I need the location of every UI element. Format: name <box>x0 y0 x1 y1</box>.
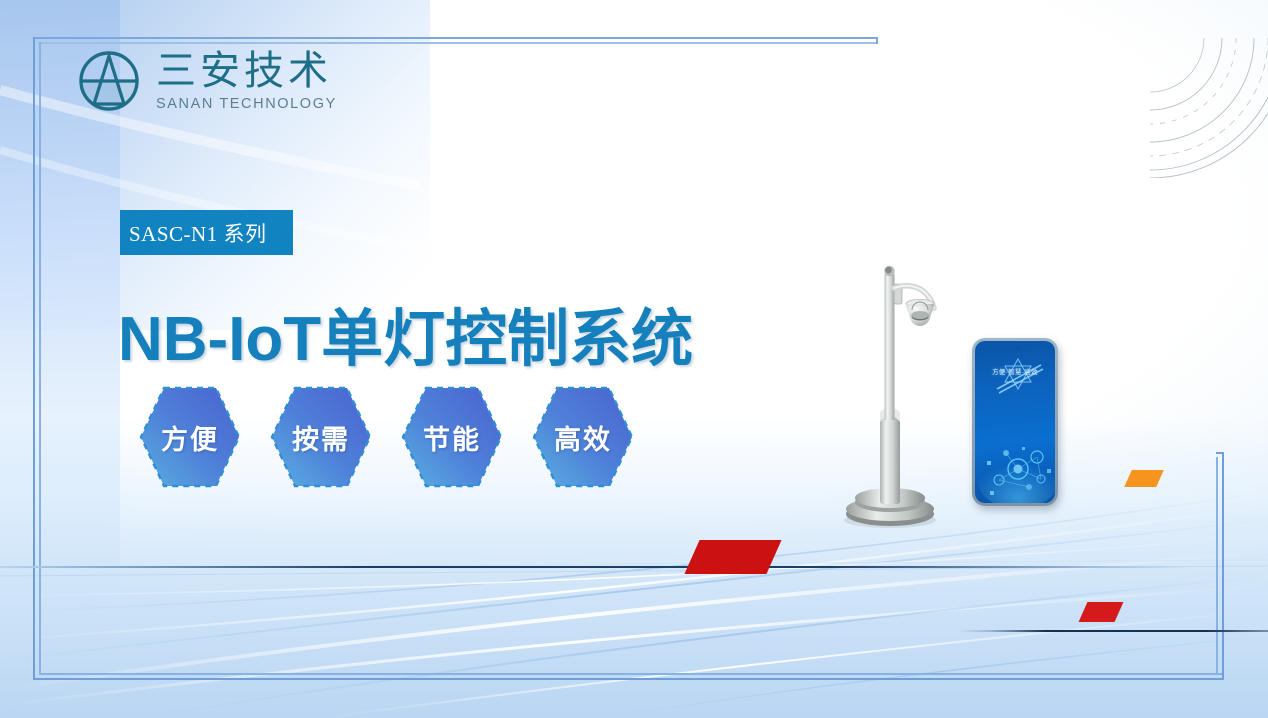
feature-label: 按需 <box>292 418 350 457</box>
concentric-radar-arcs-icon <box>972 0 1268 178</box>
feature-label: 节能 <box>423 418 481 457</box>
phone-body: 方便·智慧·高效 <box>972 338 1058 506</box>
phone-screen: 方便·智慧·高效 <box>975 341 1055 503</box>
brand-name-cn: 三安技术 <box>156 51 337 91</box>
frame-right-cap <box>1216 452 1224 454</box>
accent-line-upper <box>0 566 1190 568</box>
series-badge-label: SASC-N1 系列 <box>129 218 266 248</box>
smartphone-icon: 方便·智慧·高效 <box>972 338 1058 506</box>
brand-logo-text: 三安技术 SANAN TECHNOLOGY <box>156 51 337 112</box>
frame-left-line-inner <box>39 42 41 675</box>
page-title: NB-IoT单灯控制系统 <box>118 288 693 378</box>
feature-hexagon[interactable]: 方便 <box>138 384 242 490</box>
frame-top-line-outer <box>33 37 878 39</box>
frame-right-line-outer <box>1222 452 1224 680</box>
frame-top-line-inner <box>38 42 878 44</box>
slide-root: 三安技术 SANAN TECHNOLOGY SASC-N1 系列 NB-IoT单… <box>0 0 1268 718</box>
feature-label: 方便 <box>161 418 219 457</box>
brand-logo: 三安技术 SANAN TECHNOLOGY <box>76 48 337 114</box>
phone-screen-motto: 方便·智慧·高效 <box>975 366 1055 376</box>
series-badge: SASC-N1 系列 <box>120 210 293 255</box>
brand-name-en: SANAN TECHNOLOGY <box>156 97 337 112</box>
sanan-circle-a-icon <box>76 48 142 114</box>
smart-streetlight-icon <box>832 252 948 532</box>
feature-hexagon[interactable]: 高效 <box>531 384 635 490</box>
frame-top-cap <box>876 37 878 44</box>
frame-bottom-line-inner <box>39 673 1222 675</box>
frame-right-line-inner <box>1216 457 1218 675</box>
frame-left-line-outer <box>33 37 35 680</box>
accent-line-lower <box>958 630 1268 632</box>
feature-hexagon[interactable]: 节能 <box>400 384 504 490</box>
feature-label: 高效 <box>554 418 612 457</box>
feature-hexagon-row: 方便 按需 节能 <box>138 384 635 490</box>
feature-hexagon[interactable]: 按需 <box>269 384 373 490</box>
accent-parallelogram-red-large <box>684 540 781 574</box>
frame-bottom-line-outer <box>33 678 1224 680</box>
